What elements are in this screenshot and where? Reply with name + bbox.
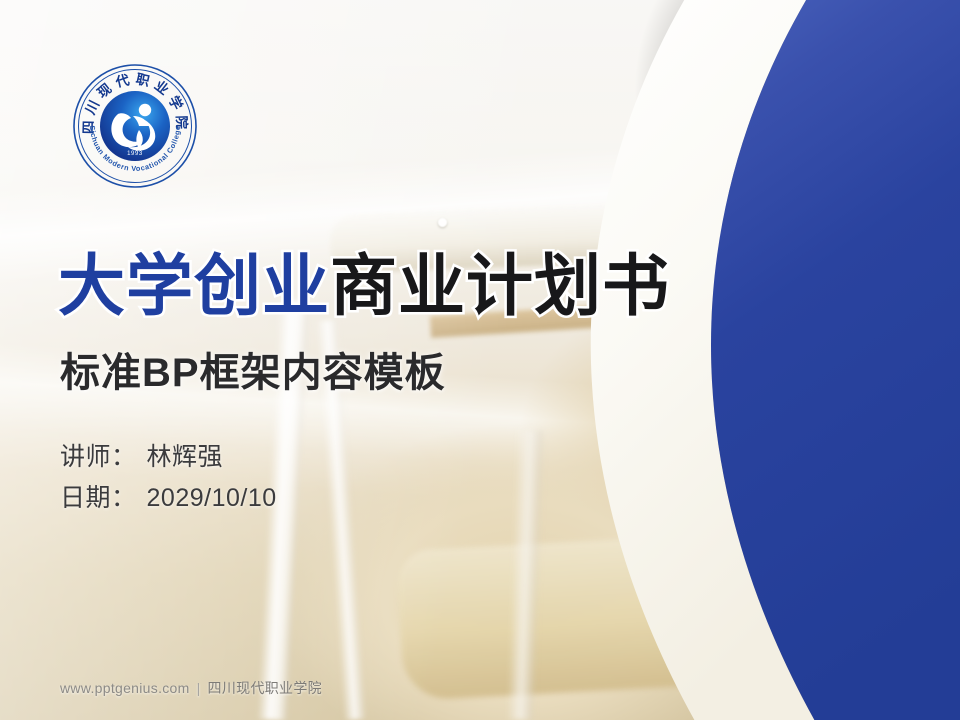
- page-title-black-part: 商业计划书: [330, 249, 670, 324]
- footer-organization: 四川现代职业学院: [208, 680, 322, 696]
- presenter-label: 讲师：: [60, 443, 137, 471]
- page-subtitle: 标准BP框架内容模板: [60, 340, 758, 398]
- date-value: 2029/10/10: [147, 484, 277, 512]
- date-row: 日期：2029/10/10: [60, 478, 277, 519]
- date-label: 日期：: [60, 484, 137, 512]
- presenter-value: 林辉强: [147, 443, 224, 471]
- presentation-meta: 讲师：林辉强 日期：2029/10/10: [60, 437, 277, 518]
- title-block: 大学创业商业计划书 标准BP框架内容模板: [58, 252, 758, 398]
- presenter-row: 讲师：林辉强: [60, 437, 277, 478]
- page-title: 大学创业商业计划书: [58, 252, 758, 322]
- footer-separator: |: [197, 680, 201, 696]
- college-logo: 四川现代职业学院 Sichuan Modern Vocational Colle…: [71, 62, 199, 190]
- footer-website: www.pptgenius.com: [60, 680, 190, 696]
- page-title-blue-part: 大学创业: [58, 249, 330, 324]
- slide-footer: www.pptgenius.com|四川现代职业学院: [60, 678, 322, 698]
- presentation-slide: 四川现代职业学院 Sichuan Modern Vocational Colle…: [0, 0, 960, 720]
- logo-founded-year: 1993: [127, 151, 143, 157]
